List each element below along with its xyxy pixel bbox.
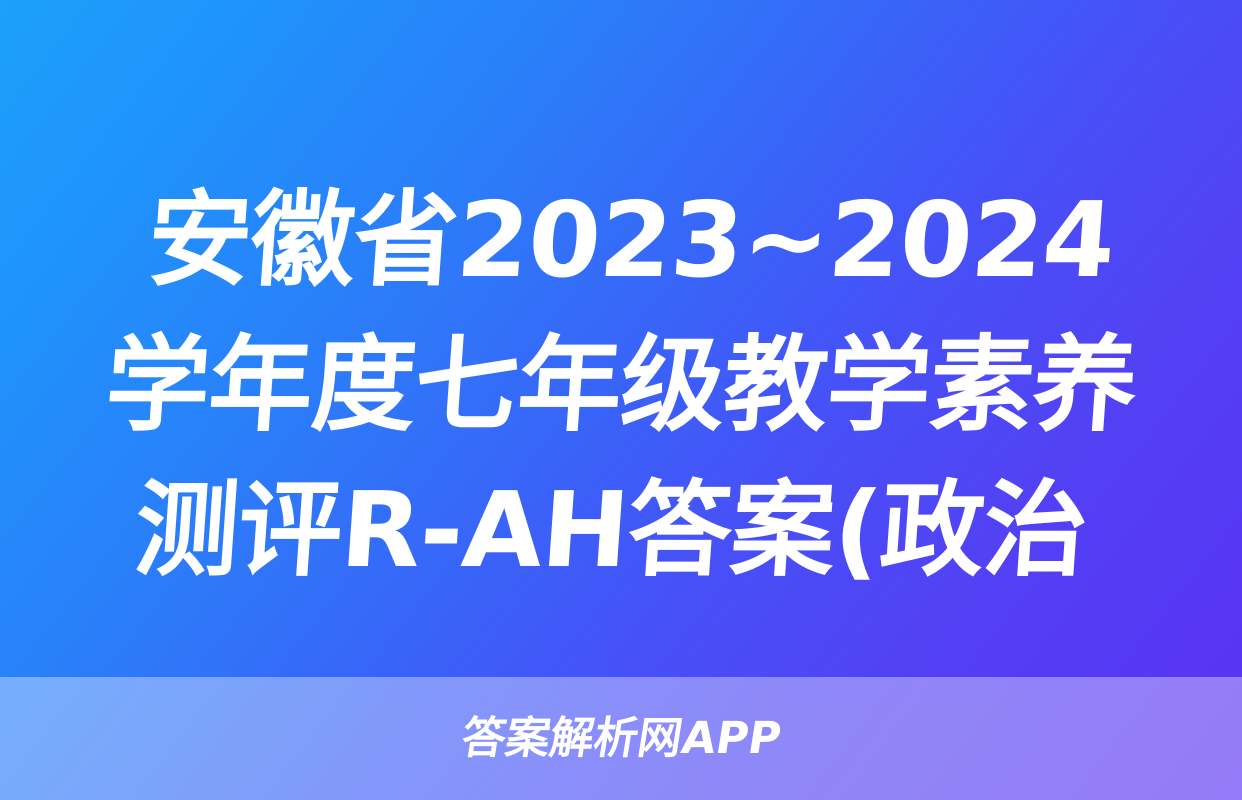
footer-bar: 答案解析网APP: [0, 677, 1242, 800]
headline-block: 安徽省2023~2024学年度七年级教学素养测评R-AH答案(政治: [0, 168, 1242, 603]
app-brand-label: 答案解析网APP: [458, 717, 784, 761]
page-title: 安徽省2023~2024学年度七年级教学素养测评R-AH答案(政治: [81, 168, 1161, 603]
poster-canvas: 安徽省2023~2024学年度七年级教学素养测评R-AH答案(政治 答案解析网A…: [0, 0, 1242, 800]
